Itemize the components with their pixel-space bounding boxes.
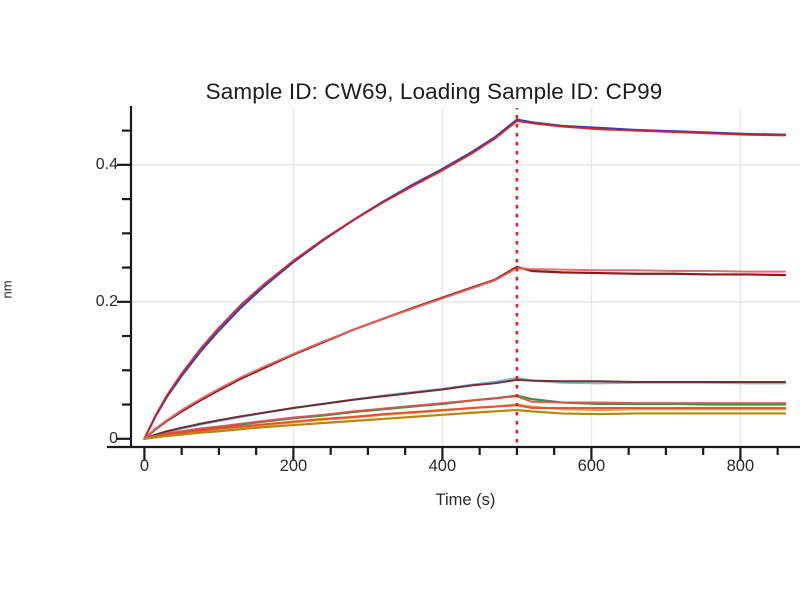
- plot-area: [0, 0, 800, 600]
- chart-figure: Sample ID: CW69, Loading Sample ID: CP99…: [0, 0, 800, 600]
- series-line: [144, 405, 785, 439]
- axes: [107, 106, 800, 460]
- series-line: [144, 121, 785, 439]
- gridlines: [131, 108, 800, 447]
- series-group: [144, 120, 785, 439]
- series-line: [144, 120, 785, 439]
